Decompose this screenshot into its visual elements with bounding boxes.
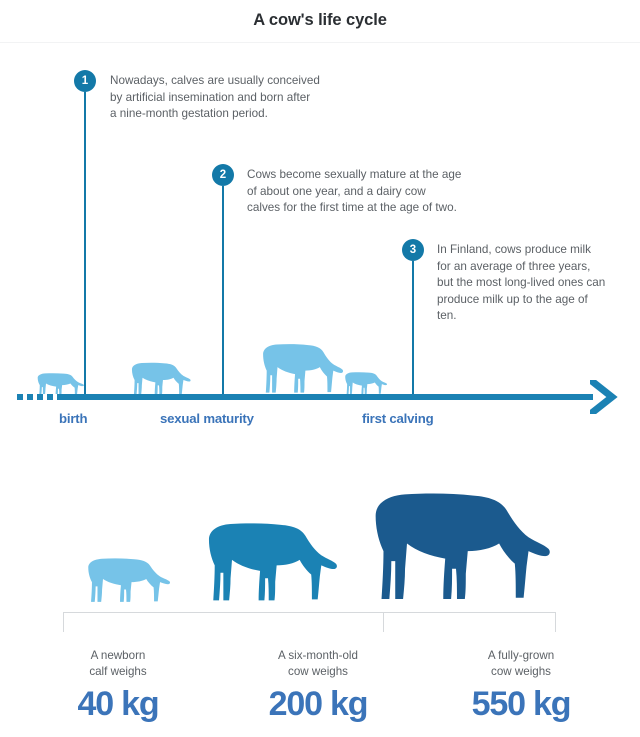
weight-bracket-divider	[383, 612, 384, 632]
timeline-cow-young	[126, 358, 192, 396]
weight-block-fully-grown: A fully-grown cow weighs 550 kg	[451, 648, 591, 724]
cow-silhouette-icon	[33, 370, 85, 396]
axis-dashed-segment	[17, 394, 65, 400]
weight-value-fully-grown: 550 kg	[451, 685, 591, 724]
weight-cow-six-month-old	[196, 512, 340, 604]
cow-silhouette-icon	[126, 358, 192, 396]
step-connector-line-2	[222, 186, 224, 394]
cow-silhouette-icon	[255, 337, 345, 395]
timeline-cow-calf-after-calving	[341, 369, 388, 395]
weight-caption-newborn: A newborn calf weighs	[48, 648, 188, 681]
step-connector-line-3	[412, 261, 414, 394]
step-badge-2[interactable]: 2	[212, 164, 234, 186]
step-text-1: Nowadays, calves are usually conceived b…	[110, 73, 360, 123]
weight-value-six-month-old: 200 kg	[248, 685, 388, 724]
step-text-2: Cows become sexually mature at the age o…	[247, 167, 502, 217]
step-badge-3[interactable]: 3	[402, 239, 424, 261]
header-bar: A cow's life cycle	[0, 0, 640, 43]
weight-block-six-month-old: A six-month-old cow weighs 200 kg	[248, 648, 388, 724]
timeline-cow-adult	[255, 337, 345, 395]
weight-value-newborn: 40 kg	[48, 685, 188, 724]
weight-caption-six-month-old: A six-month-old cow weighs	[248, 648, 388, 681]
cow-silhouette-icon	[358, 478, 554, 604]
weight-block-newborn: A newborn calf weighs 40 kg	[48, 648, 188, 724]
step-connector-line-1	[84, 92, 86, 394]
cow-silhouette-icon	[80, 552, 172, 604]
cow-silhouette-icon	[196, 512, 340, 604]
axis-label-first-calving: first calving	[362, 411, 433, 426]
axis-label-birth: birth	[59, 411, 87, 426]
axis-label-sexual-maturity: sexual maturity	[160, 411, 254, 426]
weight-cow-fully-grown	[358, 478, 554, 604]
weight-cow-newborn	[80, 552, 172, 604]
timeline-cow-newborn	[33, 370, 85, 396]
axis-line	[63, 394, 593, 400]
step-badge-1[interactable]: 1	[74, 70, 96, 92]
step-text-3: In Finland, cows produce milk for an ave…	[437, 242, 637, 325]
cow-silhouette-icon	[341, 369, 388, 395]
weight-bracket	[63, 612, 556, 632]
weight-caption-fully-grown: A fully-grown cow weighs	[451, 648, 591, 681]
page-title: A cow's life cycle	[0, 11, 640, 30]
